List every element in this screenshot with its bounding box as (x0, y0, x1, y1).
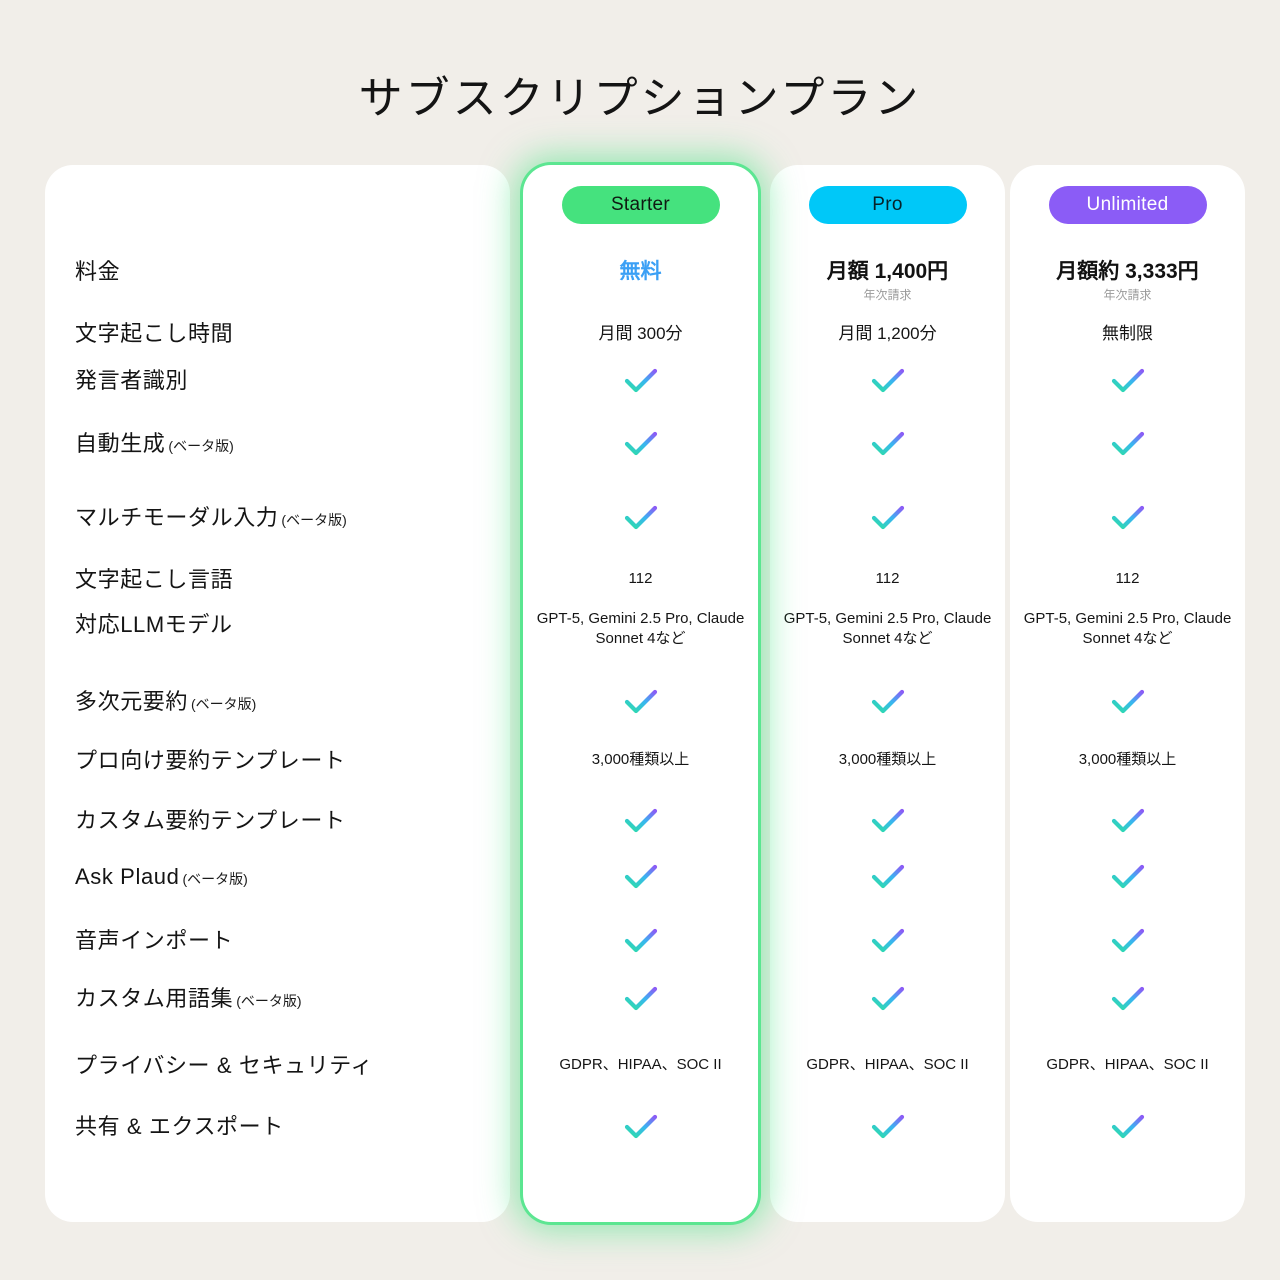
check-icon (1010, 688, 1245, 716)
check-icon (523, 985, 758, 1013)
cell-unlimited-5: 112 (1010, 571, 1245, 586)
cell-starter-12 (523, 985, 758, 1013)
check-icon (1010, 927, 1245, 955)
plan-card-pro[interactable]: Pro 月額 1,400円年次請求月間 1,200分112GPT-5, Gemi… (770, 165, 1005, 1222)
cell-starter-11 (523, 927, 758, 955)
page-title: サブスクリプションプラン (0, 62, 1280, 126)
cell-value: 月間 1,200分 (770, 325, 1005, 342)
cell-pro-9 (770, 807, 1005, 835)
feature-label-8: プロ向け要約テンプレート (75, 750, 495, 772)
feature-label-text: 発言者識別 (75, 368, 188, 393)
price-billing-note: 年次請求 (1010, 289, 1245, 301)
feature-label-11: 音声インポート (75, 930, 495, 952)
feature-label-text: プライバシー & セキュリティ (75, 1053, 373, 1078)
cell-starter-7 (523, 688, 758, 716)
check-icon (523, 863, 758, 891)
feature-label-text: 共有 & エクスポート (75, 1114, 284, 1139)
cell-pro-11 (770, 927, 1005, 955)
plan-badge-starter[interactable]: Starter (562, 186, 720, 224)
feature-label-4: マルチモーダル入力(ベータ版) (75, 507, 495, 529)
feature-label-beta-tag: (ベータ版) (236, 993, 301, 1009)
plan-badge-pro[interactable]: Pro (809, 186, 967, 224)
cell-pro-4 (770, 504, 1005, 532)
cell-unlimited-7 (1010, 688, 1245, 716)
cell-unlimited-8: 3,000種類以上 (1010, 752, 1245, 767)
check-icon (770, 1113, 1005, 1141)
cell-starter-14 (523, 1113, 758, 1141)
cell-value: GPT-5, Gemini 2.5 Pro, Claude Sonnet 4など (770, 609, 1005, 650)
check-icon (770, 504, 1005, 532)
cell-value: GDPR、HIPAA、SOC II (770, 1057, 1005, 1072)
check-icon (523, 430, 758, 458)
cell-value: GDPR、HIPAA、SOC II (523, 1057, 758, 1072)
feature-label-0: 料金 (75, 261, 495, 283)
cell-starter-9 (523, 807, 758, 835)
feature-label-10: Ask Plaud(ベータ版) (75, 866, 495, 888)
cell-unlimited-6: GPT-5, Gemini 2.5 Pro, Claude Sonnet 4など (1010, 609, 1245, 650)
cell-unlimited-0: 月額約 3,333円年次請求 (1010, 261, 1245, 301)
feature-label-text: 多次元要約 (75, 689, 188, 714)
feature-label-3: 自動生成(ベータ版) (75, 433, 495, 455)
cell-starter-1: 月間 300分 (523, 325, 758, 342)
feature-label-beta-tag: (ベータ版) (168, 438, 233, 454)
cell-pro-2 (770, 367, 1005, 395)
price-billing-note: 年次請求 (770, 289, 1005, 301)
cell-starter-3 (523, 430, 758, 458)
features-card: 料金文字起こし時間発言者識別自動生成(ベータ版)マルチモーダル入力(ベータ版)文… (45, 165, 510, 1222)
check-icon (1010, 367, 1245, 395)
cell-unlimited-3 (1010, 430, 1245, 458)
check-icon (770, 807, 1005, 835)
feature-label-6: 対応LLMモデル (75, 614, 495, 636)
cell-value: 112 (1010, 571, 1245, 586)
check-icon (770, 863, 1005, 891)
check-icon (1010, 807, 1245, 835)
feature-label-beta-tag: (ベータ版) (182, 871, 247, 887)
cell-unlimited-12 (1010, 985, 1245, 1013)
feature-label-text: 文字起こし言語 (75, 567, 233, 592)
cell-unlimited-14 (1010, 1113, 1245, 1141)
check-icon (1010, 863, 1245, 891)
check-icon (770, 367, 1005, 395)
feature-label-5: 文字起こし言語 (75, 569, 495, 591)
feature-label-text: マルチモーダル入力 (75, 505, 278, 530)
check-icon (1010, 430, 1245, 458)
feature-label-12: カスタム用語集(ベータ版) (75, 988, 495, 1010)
cell-starter-6: GPT-5, Gemini 2.5 Pro, Claude Sonnet 4など (523, 609, 758, 650)
cell-starter-13: GDPR、HIPAA、SOC II (523, 1057, 758, 1072)
cell-pro-14 (770, 1113, 1005, 1141)
cell-pro-10 (770, 863, 1005, 891)
cell-value: 無制限 (1010, 325, 1245, 342)
feature-label-text: 対応LLMモデル (75, 612, 233, 637)
check-icon (770, 430, 1005, 458)
feature-label-beta-tag: (ベータ版) (281, 512, 346, 528)
cell-pro-0: 月額 1,400円年次請求 (770, 261, 1005, 301)
feature-label-text: 料金 (75, 259, 120, 284)
feature-label-1: 文字起こし時間 (75, 323, 495, 345)
feature-label-text: プロ向け要約テンプレート (75, 748, 346, 773)
check-icon (523, 367, 758, 395)
cell-pro-8: 3,000種類以上 (770, 752, 1005, 767)
price-main: 月額 1,400円 (770, 261, 1005, 282)
cell-value: 112 (523, 571, 758, 586)
check-icon (523, 1113, 758, 1141)
cell-pro-1: 月間 1,200分 (770, 325, 1005, 342)
cell-value: 3,000種類以上 (523, 752, 758, 767)
check-icon (1010, 985, 1245, 1013)
check-icon (770, 688, 1005, 716)
cell-unlimited-13: GDPR、HIPAA、SOC II (1010, 1057, 1245, 1072)
check-icon (523, 807, 758, 835)
check-icon (523, 504, 758, 532)
cell-value: GPT-5, Gemini 2.5 Pro, Claude Sonnet 4など (1010, 609, 1245, 650)
check-icon (1010, 1113, 1245, 1141)
price-main: 月額約 3,333円 (1010, 261, 1245, 282)
check-icon (523, 927, 758, 955)
cell-starter-10 (523, 863, 758, 891)
feature-label-2: 発言者識別 (75, 370, 495, 392)
cell-unlimited-1: 無制限 (1010, 325, 1245, 342)
cell-starter-5: 112 (523, 571, 758, 586)
cell-starter-2 (523, 367, 758, 395)
check-icon (770, 927, 1005, 955)
cell-starter-0: 無料 (523, 261, 758, 282)
cell-unlimited-4 (1010, 504, 1245, 532)
feature-label-7: 多次元要約(ベータ版) (75, 691, 495, 713)
cell-value: 3,000種類以上 (770, 752, 1005, 767)
check-icon (523, 688, 758, 716)
feature-label-text: カスタム用語集 (75, 986, 233, 1011)
cell-value: 112 (770, 571, 1005, 586)
cell-unlimited-9 (1010, 807, 1245, 835)
feature-label-9: カスタム要約テンプレート (75, 810, 495, 832)
cell-unlimited-2 (1010, 367, 1245, 395)
check-icon (1010, 504, 1245, 532)
cell-pro-12 (770, 985, 1005, 1013)
feature-label-14: 共有 & エクスポート (75, 1116, 495, 1138)
cell-pro-5: 112 (770, 571, 1005, 586)
feature-label-text: 自動生成 (75, 431, 165, 456)
feature-label-text: Ask Plaud (75, 864, 179, 889)
cell-value: 3,000種類以上 (1010, 752, 1245, 767)
price-main: 無料 (523, 261, 758, 282)
cell-value: GPT-5, Gemini 2.5 Pro, Claude Sonnet 4など (523, 609, 758, 650)
cell-pro-7 (770, 688, 1005, 716)
feature-label-text: 音声インポート (75, 928, 233, 953)
feature-label-beta-tag: (ベータ版) (191, 696, 256, 712)
cell-pro-3 (770, 430, 1005, 458)
feature-label-text: 文字起こし時間 (75, 321, 233, 346)
check-icon (770, 985, 1005, 1013)
feature-label-13: プライバシー & セキュリティ (75, 1055, 495, 1077)
cell-starter-4 (523, 504, 758, 532)
feature-label-text: カスタム要約テンプレート (75, 808, 346, 833)
cell-value: 月間 300分 (523, 325, 758, 342)
cell-pro-6: GPT-5, Gemini 2.5 Pro, Claude Sonnet 4など (770, 609, 1005, 650)
cell-unlimited-10 (1010, 863, 1245, 891)
cell-value: GDPR、HIPAA、SOC II (1010, 1057, 1245, 1072)
plan-card-starter[interactable]: Starter 無料月間 300分112GPT-5, Gemini 2.5 Pr… (523, 165, 758, 1222)
plan-card-unlimited[interactable]: Unlimited 月額約 3,333円年次請求無制限112GPT-5, Gem… (1010, 165, 1245, 1222)
plan-badge-unlimited[interactable]: Unlimited (1049, 186, 1207, 224)
cell-starter-8: 3,000種類以上 (523, 752, 758, 767)
cell-pro-13: GDPR、HIPAA、SOC II (770, 1057, 1005, 1072)
cell-unlimited-11 (1010, 927, 1245, 955)
